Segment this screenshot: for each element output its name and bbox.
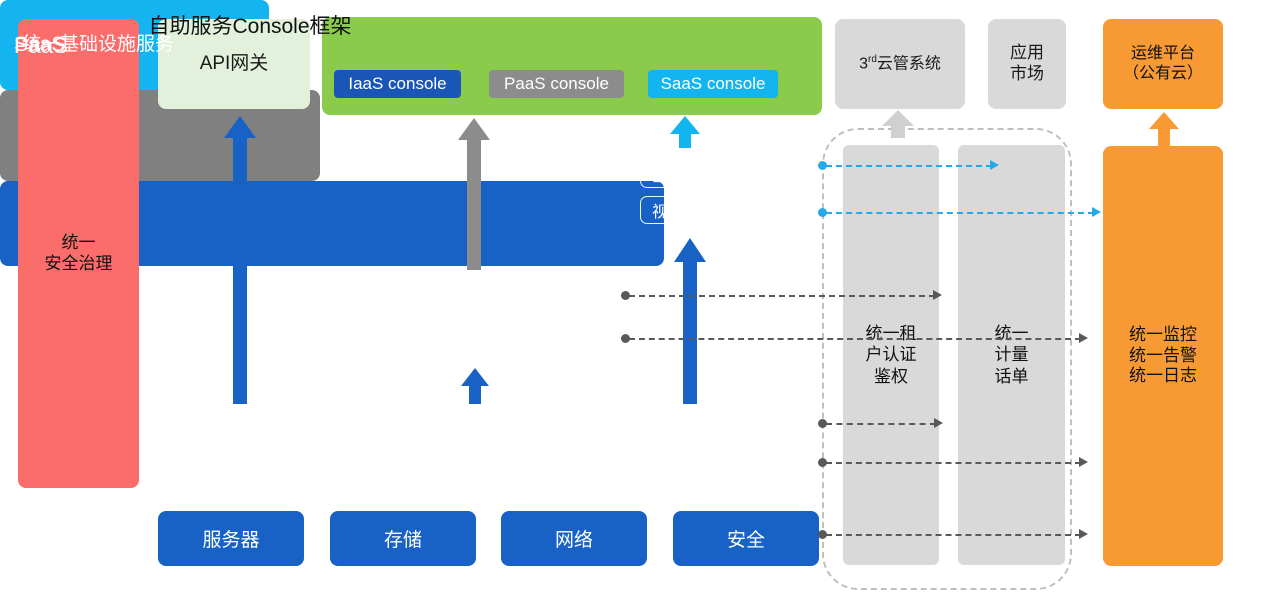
paas-item-modelarts[interactable]: ModelArts bbox=[535, 282, 613, 307]
column-unified-tenant-auth-label: 统一租 户认证 鉴权 bbox=[866, 323, 917, 387]
infra-item-cce[interactable]: CCE bbox=[707, 420, 811, 457]
infra-item-network[interactable]: Network bbox=[583, 420, 697, 457]
arrow-infra-to-paas bbox=[461, 368, 489, 404]
arrow-infra-to-api-gateway bbox=[224, 116, 256, 404]
arrow-ops-right-to-ops-top bbox=[1149, 112, 1179, 148]
arrow-infra-to-saas bbox=[674, 238, 706, 404]
connector-saas-to-ops bbox=[826, 212, 1094, 214]
panel-unified-monitoring-alarm-log: 统一监控 统一告警 统一日志 bbox=[1103, 146, 1223, 566]
panel-ops-platform-label: 运维平台 （公有云） bbox=[1123, 44, 1203, 83]
hardware-item-server[interactable]: 服务器 bbox=[158, 511, 304, 566]
arrowhead-infra-to-tenant-auth bbox=[934, 418, 943, 428]
saas-item-video-cloud[interactable]: 视频云 bbox=[640, 196, 712, 224]
saas-item-blockchain[interactable]: 区块链 bbox=[640, 160, 712, 188]
saas-item-iot[interactable]: IoT bbox=[722, 160, 794, 188]
arrow-shared-to-third-party bbox=[882, 110, 914, 138]
infra-item-storage[interactable]: Storage bbox=[466, 420, 573, 457]
panel-unified-monitoring-label: 统一监控 统一告警 统一日志 bbox=[1129, 325, 1197, 387]
third-party-suffix: 云管系统 bbox=[877, 55, 941, 72]
arrowhead-saas-to-tenant-auth bbox=[990, 160, 999, 170]
paas-item-database[interactable]: 数据库 bbox=[377, 318, 447, 343]
hardware-item-storage[interactable]: 存储 bbox=[330, 511, 476, 566]
connector-saas-to-tenant-auth bbox=[826, 165, 992, 167]
paas-item-cache[interactable]: 缓存 bbox=[456, 318, 526, 343]
panel-app-market-label: 应用 市场 bbox=[1010, 43, 1044, 84]
infra-item-compute[interactable]: Compute bbox=[343, 420, 456, 457]
paas-item-big-data[interactable]: 大数据 bbox=[535, 318, 613, 343]
third-party-label: 3rd云管系统 bbox=[859, 54, 941, 74]
paas-item-roma[interactable]: ROMA bbox=[377, 282, 447, 307]
arrowhead-saas-to-ops bbox=[1092, 207, 1101, 217]
third-party-superscript: rd bbox=[868, 54, 877, 65]
panel-api-gateway-label: API网关 bbox=[200, 52, 269, 75]
connector-infra-to-tenant-auth bbox=[826, 423, 936, 425]
column-unified-metering-billing-label: 统一 计量 话单 bbox=[995, 323, 1029, 387]
arrow-saas-to-console bbox=[670, 116, 700, 148]
column-unified-metering-billing: 统一 计量 话单 bbox=[958, 145, 1065, 565]
chip-paas-console[interactable]: PaaS console bbox=[489, 70, 624, 98]
architecture-diagram: 统一 安全治理 API网关 自助服务Console框架 IaaS console… bbox=[0, 0, 1265, 605]
arrowhead-paas-to-tenant-auth bbox=[933, 290, 942, 300]
panel-third-party-cloud-management: 3rd云管系统 bbox=[835, 19, 965, 109]
infrastructure-layer-label: 统一基础设施服务 bbox=[22, 0, 174, 85]
third-party-prefix: 3 bbox=[859, 55, 868, 72]
hardware-item-security[interactable]: 安全 bbox=[673, 511, 819, 566]
arrow-paas-to-console bbox=[458, 118, 490, 270]
connector-paas-to-ops bbox=[629, 338, 1081, 340]
arrowhead-hardware-to-ops bbox=[1079, 529, 1088, 539]
panel-ops-platform-public-cloud: 运维平台 （公有云） bbox=[1103, 19, 1223, 109]
panel-unified-security-governance-label: 统一 安全治理 bbox=[45, 233, 113, 274]
connector-infra-to-ops bbox=[826, 462, 1081, 464]
paas-item-dgc[interactable]: DGC bbox=[456, 282, 526, 307]
chip-saas-console[interactable]: SaaS console bbox=[648, 70, 778, 98]
hardware-item-network[interactable]: 网络 bbox=[501, 511, 647, 566]
column-unified-tenant-auth: 统一租 户认证 鉴权 bbox=[843, 145, 939, 565]
saas-item-desktop-cloud[interactable]: 桌面云 bbox=[722, 196, 794, 224]
arrowhead-paas-to-ops bbox=[1079, 333, 1088, 343]
arrowhead-infra-to-ops bbox=[1079, 457, 1088, 467]
connector-hardware-to-ops bbox=[826, 534, 1081, 536]
connector-paas-to-tenant-auth bbox=[629, 295, 935, 297]
chip-iaas-console[interactable]: IaaS console bbox=[334, 70, 461, 98]
panel-app-market: 应用 市场 bbox=[988, 19, 1066, 109]
